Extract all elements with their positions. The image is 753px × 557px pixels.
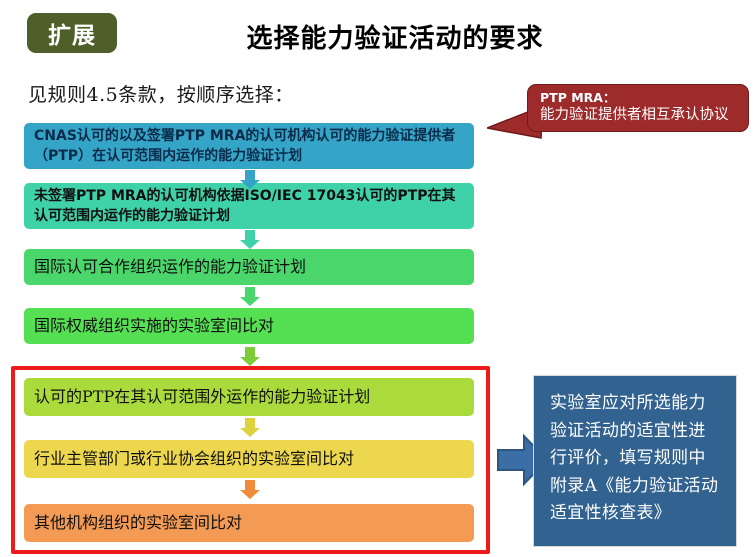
- arrow-down-icon: [239, 287, 261, 307]
- conclusion-panel: 实验室应对所选能力验证活动的适宜性进行评价，填写规则中附录A《能力验证活动适宜性…: [533, 375, 737, 547]
- flow-box-7[interactable]: 其他机构组织的实验室间比对: [24, 504, 474, 542]
- flow-box-4[interactable]: 国际权威组织实施的实验室间比对: [24, 308, 474, 344]
- callout-line-1: PTP MRA：: [540, 90, 748, 106]
- flow-box-6-label: 行业主管部门或行业协会组织的实验室间比对: [34, 447, 354, 470]
- ptp-mra-callout: PTP MRA： 能力验证提供者相互承认协议: [527, 84, 749, 132]
- flow-box-1-label: CNAS认可的以及签署PTP MRA的认可机构认可的能力验证提供者（PTP）在认…: [34, 126, 464, 167]
- page-title: 选择能力验证活动的要求: [150, 18, 640, 55]
- arrow-down-icon: [239, 230, 261, 250]
- flow-box-5[interactable]: 认可的PTP在其认可范围外运作的能力验证计划: [24, 378, 474, 416]
- flow-box-4-label: 国际权威组织实施的实验室间比对: [34, 314, 274, 337]
- arrow-down-icon: [239, 480, 261, 500]
- extension-badge: 扩展: [27, 13, 117, 53]
- intro-text: 见规则4.5条款，按顺序选择：: [28, 80, 294, 107]
- flow-box-2-label: 未签署PTP MRA的认可机构依据ISO/IEC 17043认可的PTP在其认可…: [34, 186, 464, 227]
- flow-box-6[interactable]: 行业主管部门或行业协会组织的实验室间比对: [24, 440, 474, 478]
- conclusion-panel-text: 实验室应对所选能力验证活动的适宜性进行评价，填写规则中附录A《能力验证活动适宜性…: [550, 393, 718, 523]
- flow-box-1[interactable]: CNAS认可的以及签署PTP MRA的认可机构认可的能力验证提供者（PTP）在认…: [24, 123, 474, 169]
- arrow-down-icon: [239, 418, 261, 438]
- extension-badge-label: 扩展: [48, 16, 96, 50]
- flow-box-7-label: 其他机构组织的实验室间比对: [34, 511, 242, 534]
- flow-box-3-label: 国际认可合作组织运作的能力验证计划: [34, 255, 306, 278]
- arrow-down-icon: [239, 347, 261, 367]
- flow-box-5-label: 认可的PTP在其认可范围外运作的能力验证计划: [34, 385, 370, 408]
- arrow-down-icon: [239, 170, 261, 190]
- flow-box-3[interactable]: 国际认可合作组织运作的能力验证计划: [24, 249, 474, 285]
- callout-line-2: 能力验证提供者相互承认协议: [540, 106, 748, 124]
